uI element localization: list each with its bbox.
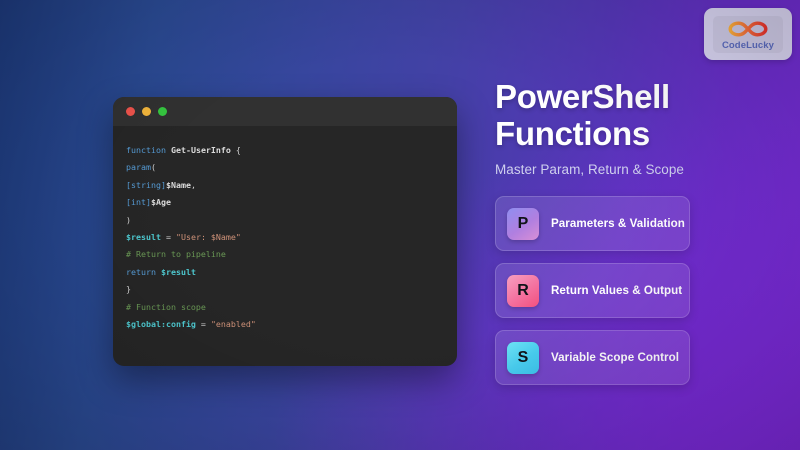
code-window-titlebar (113, 97, 457, 126)
code-token: $Name (166, 180, 191, 190)
page-subtitle: Master Param, Return & Scope (495, 162, 750, 177)
code-line: # Return to pipeline (126, 246, 457, 263)
code-token: { (231, 145, 241, 155)
code-token: ) (126, 215, 131, 225)
code-token: [string] (126, 180, 166, 190)
feature-card-label: Return Values & Output (551, 284, 682, 297)
code-token: function (126, 145, 166, 155)
code-token: } (126, 284, 131, 294)
close-dot[interactable] (126, 107, 135, 116)
code-token: $result (126, 232, 161, 242)
code-token: [int] (126, 197, 151, 207)
code-line: $result = "User: $Name" (126, 229, 457, 246)
code-line: [string]$Name, (126, 177, 457, 194)
infinity-icon (726, 19, 770, 39)
page-title: PowerShell Functions (495, 78, 750, 152)
title-line-2: Functions (495, 115, 750, 152)
feature-card-list: PParameters & ValidationRReturn Values &… (495, 196, 750, 385)
brand-logo-badge[interactable]: CodeLucky (704, 8, 792, 60)
code-line: $global:config = "enabled" (126, 316, 457, 333)
logo-wordmark: CodeLucky (722, 40, 774, 51)
minimize-dot[interactable] (142, 107, 151, 116)
code-content: function Get-UserInfo {param([string]$Na… (113, 126, 457, 333)
slide-canvas: CodeLucky function Get-UserInfo {param([… (0, 0, 800, 450)
code-line: param( (126, 159, 457, 176)
code-token: $Age (151, 197, 171, 207)
scope-badge: S (507, 342, 539, 374)
code-token: = (196, 319, 211, 329)
code-window: function Get-UserInfo {param([string]$Na… (113, 97, 457, 366)
return-badge: R (507, 275, 539, 307)
feature-card-label: Variable Scope Control (551, 351, 679, 364)
feature-card[interactable]: SVariable Scope Control (495, 330, 690, 385)
code-token: $result (161, 267, 196, 277)
code-line: return $result (126, 264, 457, 281)
feature-card[interactable]: RReturn Values & Output (495, 263, 690, 318)
code-token: = (161, 232, 176, 242)
code-line: # Function scope (126, 299, 457, 316)
code-token: param (126, 162, 151, 172)
code-token: , (191, 180, 196, 190)
code-token: # Function scope (126, 302, 206, 312)
logo-inner-plate: CodeLucky (713, 16, 783, 53)
code-line: ) (126, 212, 457, 229)
code-token: "enabled" (211, 319, 256, 329)
parameters-badge: P (507, 208, 539, 240)
code-token: return (126, 267, 156, 277)
code-line: [int]$Age (126, 194, 457, 211)
code-token: "User: $Name" (176, 232, 241, 242)
code-token: $global:config (126, 319, 196, 329)
code-line: function Get-UserInfo { (126, 142, 457, 159)
code-token: Get-UserInfo (171, 145, 231, 155)
maximize-dot[interactable] (158, 107, 167, 116)
feature-card-label: Parameters & Validation (551, 217, 685, 230)
feature-card[interactable]: PParameters & Validation (495, 196, 690, 251)
title-line-1: PowerShell (495, 78, 750, 115)
code-token: ( (151, 162, 156, 172)
code-token: # Return to pipeline (126, 249, 226, 259)
hero-panel: PowerShell Functions Master Param, Retur… (495, 78, 750, 385)
code-line: } (126, 281, 457, 298)
